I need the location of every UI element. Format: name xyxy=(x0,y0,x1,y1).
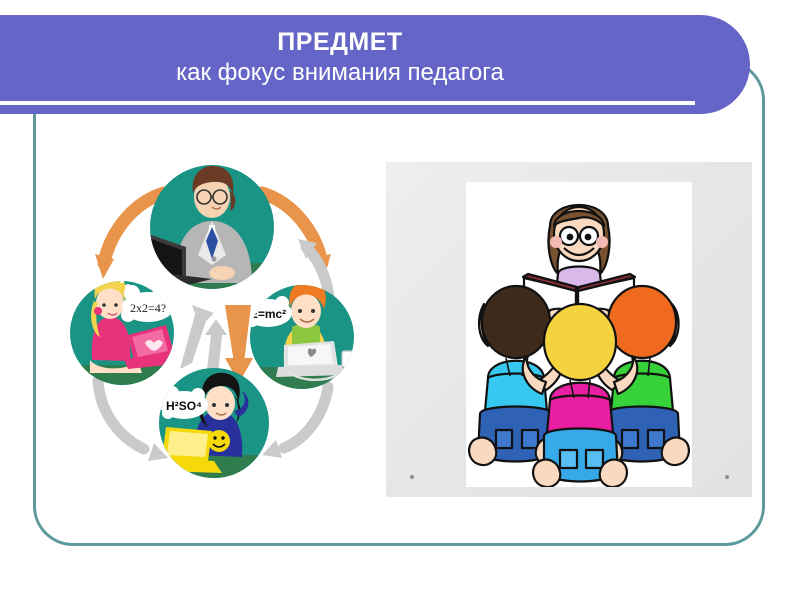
header-banner: ПРЕДМЕТ как фокус внимания педагога xyxy=(0,15,750,114)
page-subtitle: как фокус внимания педагога xyxy=(0,57,700,89)
title-block: ПРЕДМЕТ как фокус внимания педагога xyxy=(0,27,700,89)
bubble-text-math: 2x2=4? xyxy=(130,301,166,315)
bubble-text-chemistry: H²SO⁴ xyxy=(166,399,202,413)
page-title: ПРЕДМЕТ xyxy=(0,27,700,57)
picture-inner-frame xyxy=(466,182,692,487)
arrow-gray-bottomright xyxy=(262,387,328,458)
cycle-illustration: 2x2=4? xyxy=(62,155,362,485)
node-student-right: E=mc² xyxy=(244,281,360,397)
bubble-text-physics: E=mc² xyxy=(250,307,286,321)
header-underline xyxy=(0,101,695,105)
node-teacher-top xyxy=(120,165,274,293)
arrow-gray-bottomleft xyxy=(98,381,168,461)
picture-panel xyxy=(386,162,752,497)
thought-bubble-math: 2x2=4? xyxy=(120,279,174,322)
node-student-bottom: H²SO⁴ xyxy=(158,368,271,485)
presentation-slide: ПРЕДМЕТ как фокус внимания педагога xyxy=(0,0,800,600)
panel-dot-left xyxy=(410,475,414,479)
node-student-left: 2x2=4? xyxy=(70,275,184,395)
panel-dot-right xyxy=(725,475,729,479)
